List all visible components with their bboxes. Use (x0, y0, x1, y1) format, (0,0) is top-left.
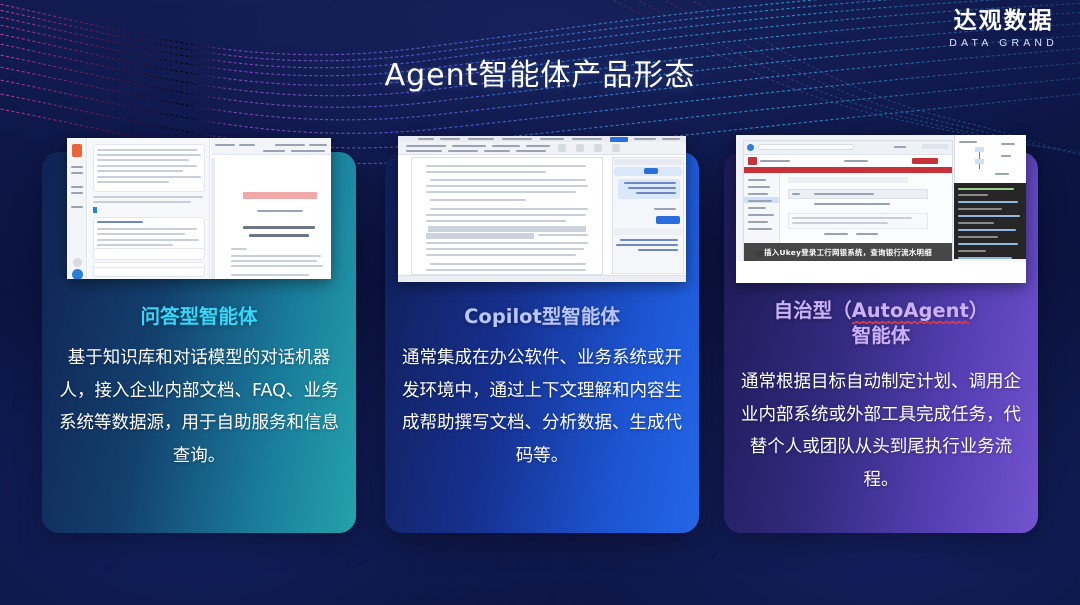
shot3-agent-plan-panel (954, 135, 1026, 183)
shot2-document-page (412, 158, 602, 274)
shot1-rail-item (71, 206, 83, 208)
shot3-result-area (788, 213, 928, 229)
shot1-rail-item (71, 172, 83, 174)
shot2-ribbon-icon[interactable] (612, 144, 620, 152)
agent-type-card-list: 问答型智能体 基于知识库和对话模型的对话机器人，接入企业内部文档、FAQ、业务系… (0, 152, 1080, 534)
card-body-auto-agent: 通常根据目标自动制定计划、调用企业内部系统或外部工具完成任务，代替个人或团队从头… (740, 366, 1022, 496)
shot3-footer (736, 261, 1026, 283)
shot3-window-controls[interactable] (922, 144, 948, 149)
shot3-browser-logo-icon (747, 144, 754, 151)
shot1-rail-logo-icon (72, 144, 82, 157)
shot1-rail-item (71, 192, 83, 194)
shot3-tab-strip[interactable] (788, 177, 908, 183)
shot1-doc-toolbar (211, 138, 331, 155)
screenshot-auto-agent: 插入Ukey登录工行网银系统，查询银行流水明细 (736, 135, 1026, 283)
page-title: Agent智能体产品形态 (0, 50, 1080, 94)
card-body-copilot-agent: 通常集成在办公软件、业务系统或开发环境中，通过上下文理解和内容生成帮助撰写文档、… (401, 342, 683, 472)
shot1-rail-item (71, 186, 83, 188)
shot3-login-button[interactable] (912, 158, 938, 164)
shot1-chat-input[interactable] (93, 267, 205, 277)
shot1-cursor (93, 207, 97, 213)
card-heading-auto-agent-prefix: 自治型（ (774, 299, 852, 322)
shot1-rail-user-icon (72, 269, 83, 279)
shot2-ribbon-icon[interactable] (576, 144, 584, 152)
card-copilot-agent[interactable]: Copilot型智能体 通常集成在办公软件、业务系统或开发环境中，通过上下文理解… (385, 152, 699, 533)
card-heading-auto-agent-term: AutoAgent (852, 299, 969, 322)
shot3-task-caption: 插入Ukey登录工行网银系统，查询银行流水明细 (744, 243, 952, 261)
card-body-qa-agent: 基于知识库和对话模型的对话机器人，接入企业内部文档、FAQ、业务系统等数据源，用… (58, 342, 340, 472)
shot1-doc-margin (211, 158, 215, 279)
shot3-plan-node (975, 159, 984, 164)
shot2-panel-active-tab[interactable] (644, 168, 658, 174)
screenshot-copilot-agent (398, 136, 686, 282)
shot3-plan-node (975, 147, 984, 152)
card-auto-agent[interactable]: 插入Ukey登录工行网银系统，查询银行流水明细 自治型（AutoAgent） 智… (724, 152, 1038, 533)
shot1-rail-avatar-icon (73, 258, 82, 267)
shot2-ribbon-icon[interactable] (594, 144, 602, 152)
card-heading-auto-agent-suffix: ） (969, 299, 989, 322)
card-heading-auto-agent-line2: 智能体 (852, 324, 911, 347)
shot2-status-bar (398, 275, 686, 282)
card-heading-qa-agent: 问答型智能体 (54, 304, 344, 329)
shot2-generate-button[interactable] (656, 216, 680, 224)
shot3-terminal-log (954, 183, 1026, 259)
brand-logo-cn: 达观数据 (949, 8, 1058, 35)
shot2-panel-subheader (614, 228, 682, 235)
shot3-bank-logo-icon (748, 157, 757, 165)
shot2-panel-header (614, 159, 682, 165)
shot1-rail-item (71, 166, 83, 168)
shot1-document-preview (211, 138, 331, 279)
shot2-selected-text (428, 226, 586, 232)
card-qa-agent[interactable]: 问答型智能体 基于知识库和对话模型的对话机器人，接入企业内部文档、FAQ、业务系… (42, 152, 356, 533)
screenshot-qa-agent (67, 138, 331, 279)
card-heading-copilot-agent: Copilot型智能体 (397, 304, 687, 329)
card-heading-auto-agent: 自治型（AutoAgent） 智能体 (736, 298, 1026, 349)
shot2-selected-text (426, 233, 534, 239)
brand-logo: 达观数据 DATA GRAND (949, 8, 1058, 49)
brand-logo-en: DATA GRAND (949, 37, 1058, 49)
shot2-ribbon-active-tab[interactable] (610, 137, 628, 142)
shot1-chat-action[interactable] (93, 248, 205, 260)
shot2-ribbon-icon[interactable] (558, 144, 566, 152)
shot1-chat-message (93, 144, 205, 192)
shot3-address-bar[interactable] (758, 144, 854, 150)
